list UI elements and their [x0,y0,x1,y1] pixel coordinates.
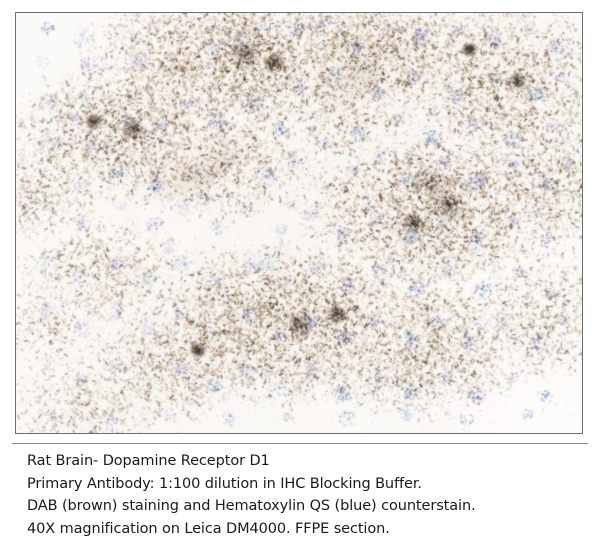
caption-line-staining: DAB (brown) staining and Hematoxylin QS … [27,495,587,518]
micrograph-image-frame [15,12,583,434]
caption: Rat Brain- Dopamine Receptor D1 Primary … [27,450,587,540]
micrograph-image [16,13,582,433]
caption-divider [12,443,588,444]
caption-line-title: Rat Brain- Dopamine Receptor D1 [27,450,587,473]
ihc-figure: Rat Brain- Dopamine Receptor D1 Primary … [0,0,600,541]
caption-line-antibody: Primary Antibody: 1:100 dilution in IHC … [27,473,587,496]
caption-line-magnification: 40X magnification on Leica DM4000. FFPE … [27,518,587,541]
